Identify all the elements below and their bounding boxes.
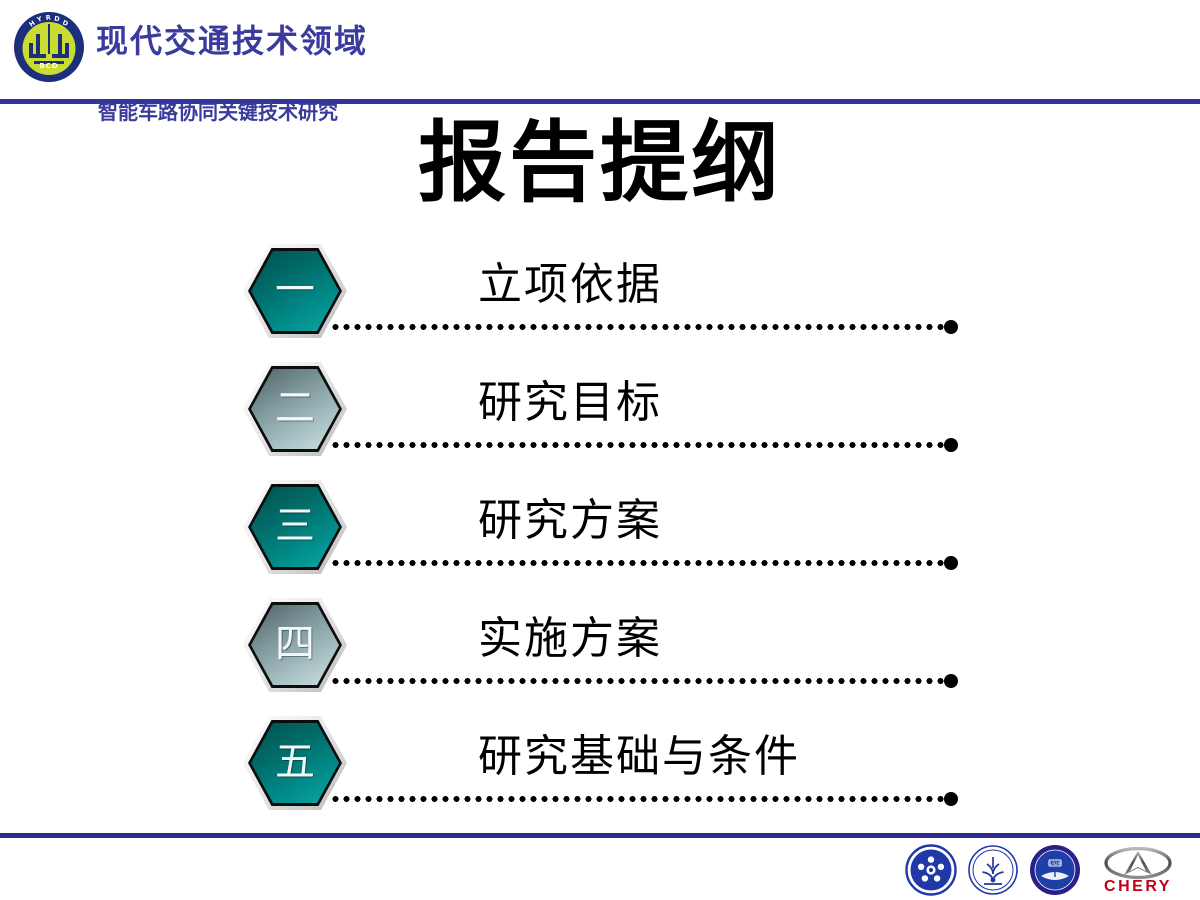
presentation-slide: BCD H Y R D D 现代交通技术领域 智能车路协同关键技术研究 报告提纲… — [0, 0, 1200, 900]
leader-dots — [330, 442, 948, 448]
outline-item-label: 研究基础与条件 — [478, 730, 800, 784]
leader-end-dot — [944, 792, 958, 806]
outline-item-label: 研究方案 — [478, 494, 662, 548]
svg-text:1929: 1929 — [1049, 861, 1060, 867]
footer-logo-strip: 1929 CHERY — [905, 843, 1195, 897]
changan-university-emblem-icon: BCD H Y R D D — [12, 10, 86, 84]
page-title: 报告提纲 — [0, 112, 1200, 214]
leader-dots — [330, 796, 948, 802]
header-title: 现代交通技术领域 — [96, 16, 368, 62]
list-item[interactable]: 五 研究基础与条件 — [0, 712, 1200, 830]
outline-list: 一 立项依据 二 研究目标 三 — [0, 240, 1200, 830]
leader-dots — [330, 678, 948, 684]
list-item[interactable]: 三 研究方案 — [0, 476, 1200, 594]
leader-end-dot — [944, 320, 958, 334]
chery-wordmark: CHERY — [1091, 878, 1185, 896]
outline-item-label: 立项依据 — [478, 258, 662, 312]
chery-automobile-logo-icon: CHERY — [1091, 845, 1185, 895]
svg-text:BCD: BCD — [39, 62, 58, 70]
leader-dots — [330, 324, 948, 330]
changan-university-logo-icon — [967, 844, 1019, 896]
list-item[interactable]: 四 实施方案 — [0, 594, 1200, 712]
chongqing-university-logo-icon: 1929 — [1029, 844, 1081, 896]
list-item[interactable]: 二 研究目标 — [0, 358, 1200, 476]
outline-item-label: 研究目标 — [478, 376, 662, 430]
leader-end-dot — [944, 674, 958, 688]
footer-divider — [0, 833, 1200, 838]
leader-end-dot — [944, 556, 958, 570]
leader-end-dot — [944, 438, 958, 452]
chinese-academy-of-sciences-logo-icon — [905, 844, 957, 896]
outline-item-label: 实施方案 — [478, 612, 662, 666]
leader-dots — [330, 560, 948, 566]
list-item[interactable]: 一 立项依据 — [0, 240, 1200, 358]
svg-text:R: R — [45, 14, 51, 22]
